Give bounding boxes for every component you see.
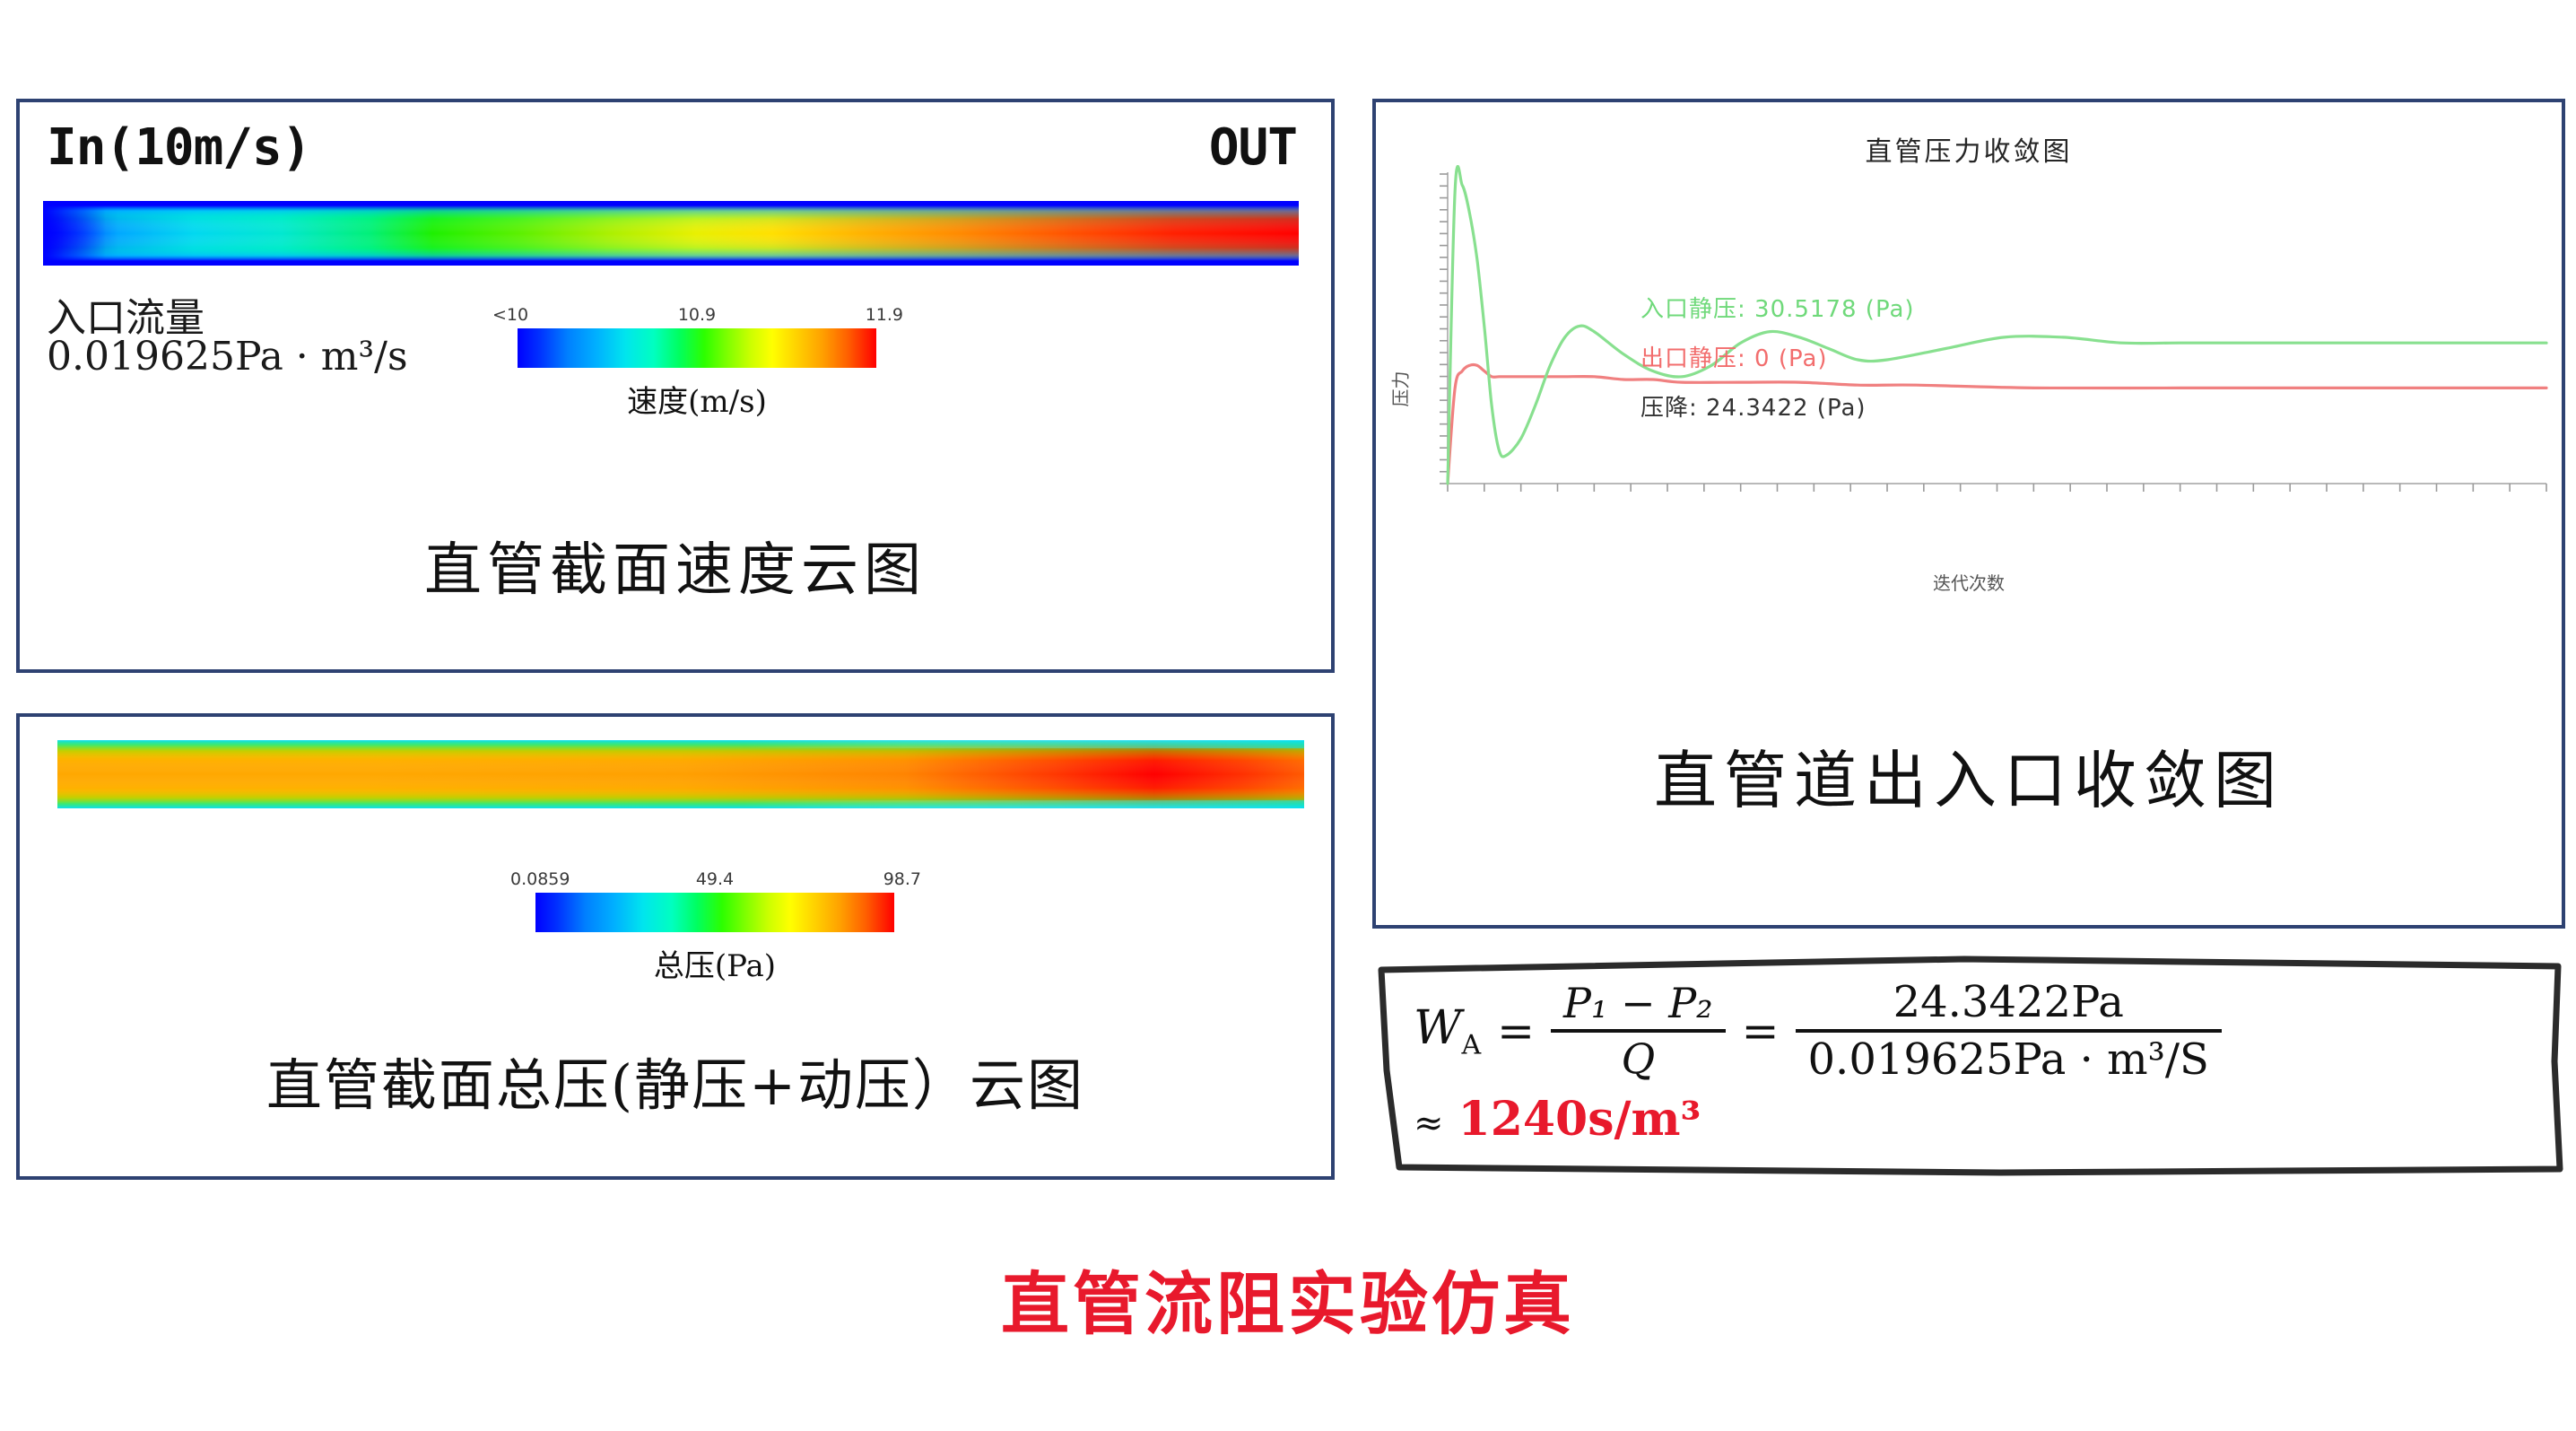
velocity-contour-image — [43, 201, 1299, 266]
formula-denominator-right: 0.019625Pa · m³/S — [1796, 1033, 2222, 1086]
formula-box: WA = P₁ − P₂ Q = 24.3422Pa 0.019625Pa · … — [1372, 954, 2565, 1178]
pressure-colorbar-mid: 49.4 — [696, 869, 734, 889]
pressure-colorbar-gradient — [535, 893, 894, 932]
convergence-chart-title: 直管压力收敛图 — [1376, 129, 2562, 169]
pressure-colorbar-min: 0.0859 — [510, 869, 570, 889]
x-axis-ticks — [1448, 484, 2546, 492]
velocity-panel-caption: 直管截面速度云图 — [20, 524, 1331, 606]
pressure-contour-image — [57, 740, 1304, 808]
pressure-colorbar-ticks: 0.0859 49.4 98.7 — [535, 869, 894, 893]
pressure-panel-caption: 直管截面总压(静压+动压）云图 — [20, 1040, 1331, 1121]
convergence-x-axis-label: 迭代次数 — [1376, 569, 2562, 595]
pressure-colorbar-title: 总压(Pa) — [535, 941, 894, 985]
page-title: 直管流阻实验仿真 — [0, 1249, 2576, 1348]
formula-fraction-right: 24.3422Pa 0.019625Pa · m³/S — [1796, 975, 2222, 1086]
velocity-colorbar-min: <10 — [492, 305, 528, 325]
formula-equals-1: = — [1497, 1005, 1535, 1057]
convergence-chart-svg — [1394, 165, 2551, 515]
formula-equals-2: = — [1742, 1005, 1780, 1057]
formula-approx-sign: ≈ — [1414, 1103, 1444, 1144]
velocity-colorbar: <10 10.9 11.9 速度(m/s) — [518, 305, 876, 421]
outlet-label: OUT — [1209, 118, 1297, 177]
formula-result-row: ≈ 1240s/m³ — [1414, 1092, 2538, 1147]
convergence-panel-caption: 直管道出入口收敛图 — [1376, 730, 2562, 821]
formula-symbol: WA — [1414, 1001, 1481, 1060]
velocity-colorbar-title: 速度(m/s) — [518, 377, 876, 421]
velocity-colorbar-ticks: <10 10.9 11.9 — [518, 305, 876, 328]
annotation-outlet-static-pressure: 出口静压: 0 (Pa) — [1640, 340, 1828, 373]
convergence-panel: 直管压力收敛图 压力 入口静压: 30.5178 (Pa) 出口静压: 0 (P… — [1372, 99, 2565, 929]
annotation-inlet-static-pressure: 入口静压: 30.5178 (Pa) — [1640, 291, 1915, 324]
formula-numerator-left: P₁ − P₂ — [1551, 977, 1726, 1029]
formula-fraction-left: P₁ − P₂ Q — [1551, 977, 1726, 1085]
inlet-label: In(10m/s) — [47, 118, 310, 177]
velocity-colorbar-mid: 10.9 — [678, 305, 716, 325]
pressure-field-svg — [57, 740, 1304, 808]
formula-content: WA = P₁ − P₂ Q = 24.3422Pa 0.019625Pa · … — [1414, 975, 2538, 1165]
formula-numerator-right: 24.3422Pa — [1881, 975, 2137, 1029]
pressure-colorbar: 0.0859 49.4 98.7 总压(Pa) — [535, 869, 894, 985]
y-axis-ticks — [1440, 174, 1448, 484]
convergence-chart-plot — [1394, 165, 2551, 515]
series-outlet-static-pressure — [1448, 364, 2546, 484]
velocity-field-svg — [43, 201, 1299, 266]
velocity-colorbar-gradient — [518, 328, 876, 368]
velocity-contour-panel: In(10m/s) OUT — [16, 99, 1335, 673]
formula-result-value: 1240s/m³ — [1458, 1092, 1701, 1147]
series-inlet-static-pressure — [1448, 166, 2546, 484]
formula-denominator-left: Q — [1608, 1033, 1667, 1085]
annotation-pressure-drop: 压降: 24.3422 (Pa) — [1640, 389, 1867, 423]
velocity-colorbar-max: 11.9 — [866, 305, 903, 325]
formula-main-row: WA = P₁ − P₂ Q = 24.3422Pa 0.019625Pa · … — [1414, 975, 2538, 1086]
pressure-colorbar-max: 98.7 — [883, 869, 921, 889]
pressure-contour-panel: 0.0859 49.4 98.7 总压(Pa) 直管截面总压(静压+动压）云图 — [16, 713, 1335, 1180]
inlet-flow-value: 0.019625Pa · m³/s — [47, 334, 408, 380]
